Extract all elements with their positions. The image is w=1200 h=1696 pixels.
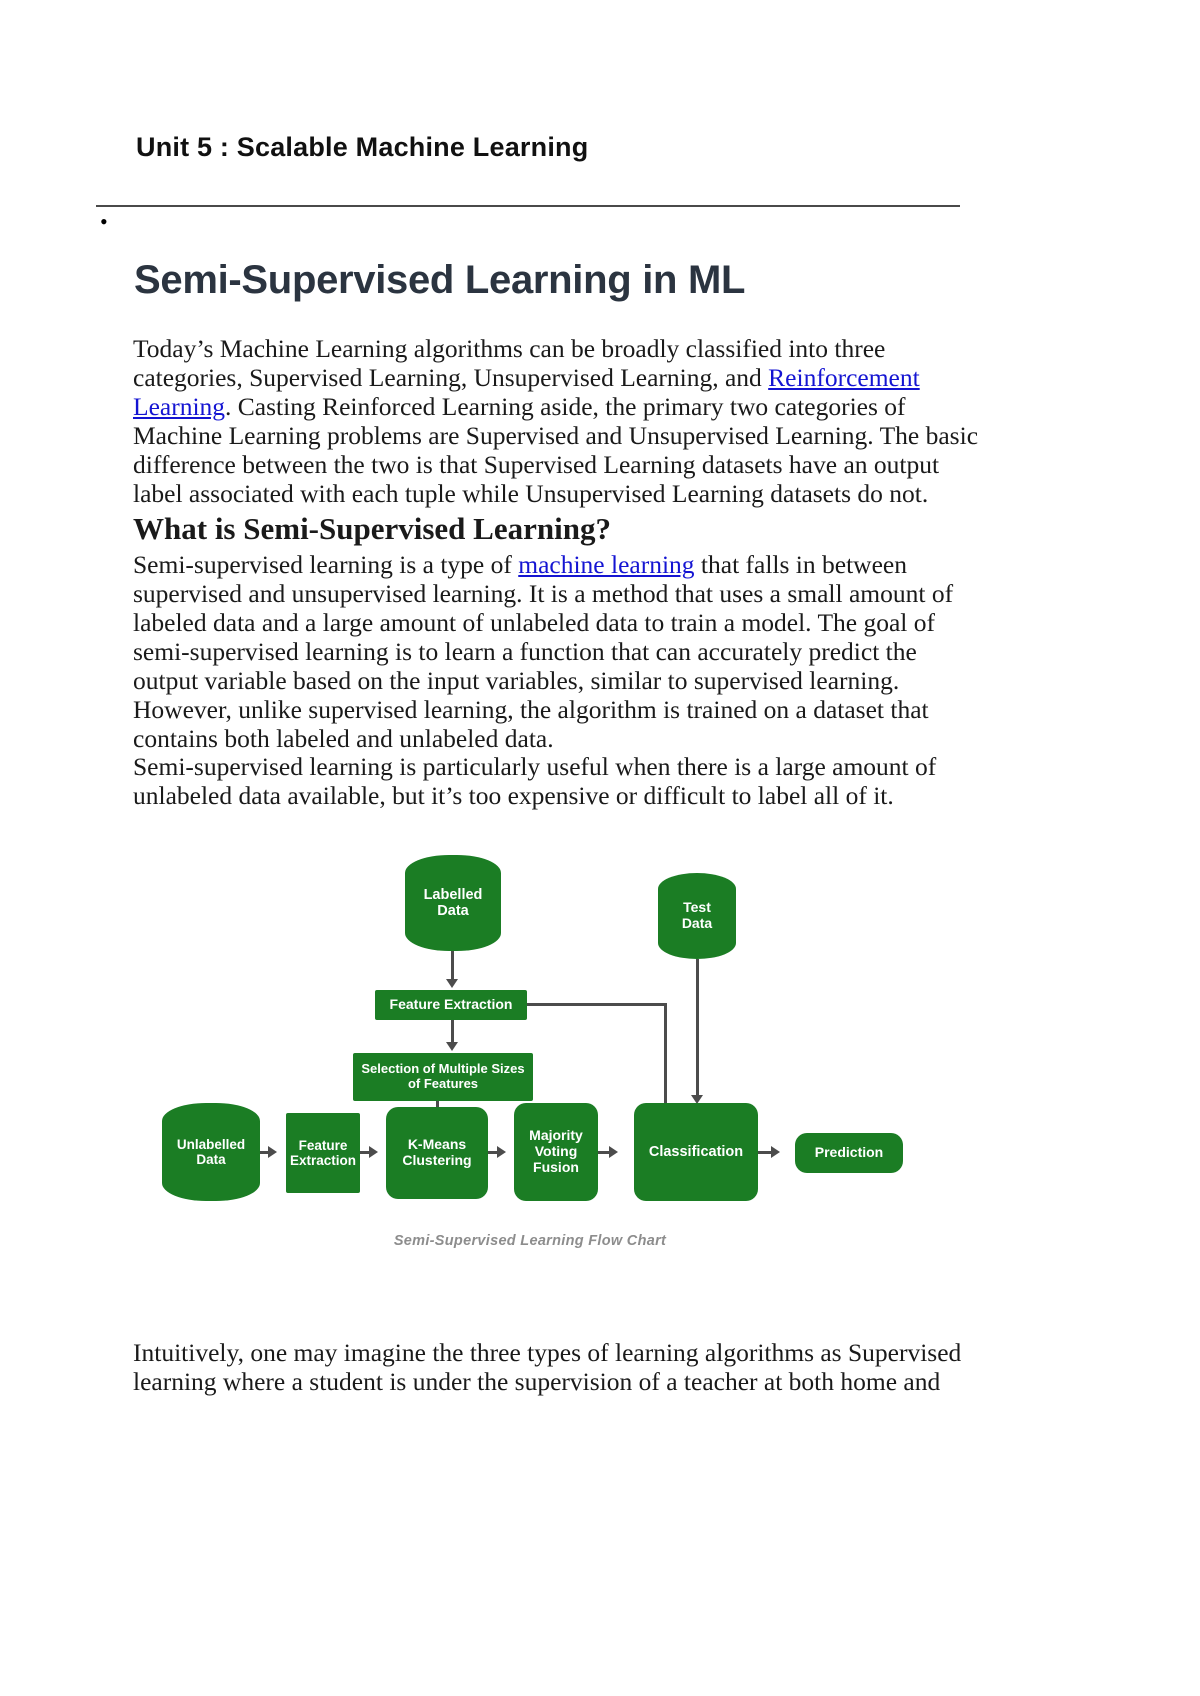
connector-unlabelled-to-feature	[260, 1151, 270, 1154]
node-majority-line2: Voting	[535, 1144, 578, 1160]
page-title: Unit 5 : Scalable Machine Learning	[136, 132, 588, 163]
node-test-data: Test Data	[658, 873, 736, 959]
paragraph-definition: Semi-supervised learning is a type of ma…	[133, 550, 978, 753]
connector-feature-to-selection	[451, 1020, 454, 1044]
node-majority-voting-fusion: Majority Voting Fusion	[514, 1103, 598, 1201]
flowchart-figure: Labelled Data Feature Extraction Selecti…	[150, 845, 910, 1265]
node-unlabelled-data-line1: Unlabelled	[177, 1137, 245, 1152]
machine-learning-link[interactable]: machine learning	[518, 550, 694, 579]
node-prediction: Prediction	[795, 1133, 903, 1173]
node-kmeans-clustering: K-Means Clustering	[386, 1107, 488, 1199]
subsection-heading: What is Semi-Supervised Learning?	[133, 511, 978, 547]
node-labelled-data: Labelled Data	[405, 855, 501, 951]
horizontal-divider	[96, 205, 960, 207]
node-feature-extraction-top-label: Feature Extraction	[390, 997, 513, 1013]
node-feature-extraction-bottom: Feature Extraction	[286, 1113, 360, 1193]
connector-labelled-to-feature	[451, 951, 454, 981]
figure-caption: Semi-Supervised Learning Flow Chart	[150, 1233, 910, 1249]
arrowhead-feature-to-selection	[446, 1042, 458, 1051]
node-classification: Classification	[634, 1103, 758, 1201]
node-test-data-line2: Data	[682, 916, 712, 932]
paragraph-definition-text-a: Semi-supervised learning is a type of	[133, 550, 518, 579]
arrowhead-classification-to-prediction	[771, 1146, 780, 1158]
paragraph-usefulness: Semi-supervised learning is particularly…	[133, 752, 978, 810]
node-selection-line2: of Features	[408, 1077, 478, 1092]
paragraph-intro-text-b: . Casting Reinforced Learning aside, the…	[133, 392, 978, 508]
section-heading: Semi-Supervised Learning in ML	[134, 258, 745, 303]
node-kmeans-line1: K-Means	[408, 1137, 466, 1153]
node-unlabelled-data-line2: Data	[196, 1152, 225, 1167]
arrowhead-feature-to-kmeans	[369, 1146, 378, 1158]
flowchart-canvas: Labelled Data Feature Extraction Selecti…	[150, 845, 910, 1225]
arrowhead-labelled-to-feature	[446, 979, 458, 988]
node-feature-extraction-top: Feature Extraction	[375, 990, 527, 1020]
node-selection-of-features: Selection of Multiple Sizes of Features	[353, 1053, 533, 1101]
connector-classification-to-prediction	[758, 1151, 772, 1154]
arrowhead-kmeans-to-majority	[497, 1146, 506, 1158]
paragraph-definition-text-b: that falls in between supervised and uns…	[133, 550, 953, 753]
paragraph-intro: Today’s Machine Learning algorithms can …	[133, 334, 978, 508]
connector-test-to-classification	[696, 959, 699, 1097]
node-feature-extraction-bottom-line2: Extraction	[290, 1153, 356, 1168]
node-majority-line1: Majority	[529, 1128, 583, 1144]
node-kmeans-line2: Clustering	[402, 1153, 471, 1169]
paragraph-usefulness-text: Semi-supervised learning is particularly…	[133, 752, 936, 810]
node-prediction-label: Prediction	[815, 1145, 883, 1161]
node-labelled-data-line1: Labelled	[424, 887, 483, 903]
bullet-marker: •	[100, 211, 108, 233]
connector-feature-to-classification-h	[527, 1003, 667, 1006]
document-page: Unit 5 : Scalable Machine Learning • Sem…	[0, 0, 1200, 1696]
node-unlabelled-data: Unlabelled Data	[162, 1103, 260, 1201]
node-test-data-line1: Test	[683, 900, 711, 916]
paragraph-intuition: Intuitively, one may imagine the three t…	[133, 1338, 978, 1396]
node-classification-label: Classification	[649, 1144, 743, 1160]
node-labelled-data-line2: Data	[437, 903, 468, 919]
node-selection-line1: Selection of Multiple Sizes	[361, 1062, 524, 1077]
node-majority-line3: Fusion	[533, 1160, 579, 1176]
paragraph-intuition-text: Intuitively, one may imagine the three t…	[133, 1338, 961, 1396]
arrowhead-majority-to-classification	[609, 1146, 618, 1158]
node-feature-extraction-bottom-line1: Feature	[299, 1138, 348, 1153]
